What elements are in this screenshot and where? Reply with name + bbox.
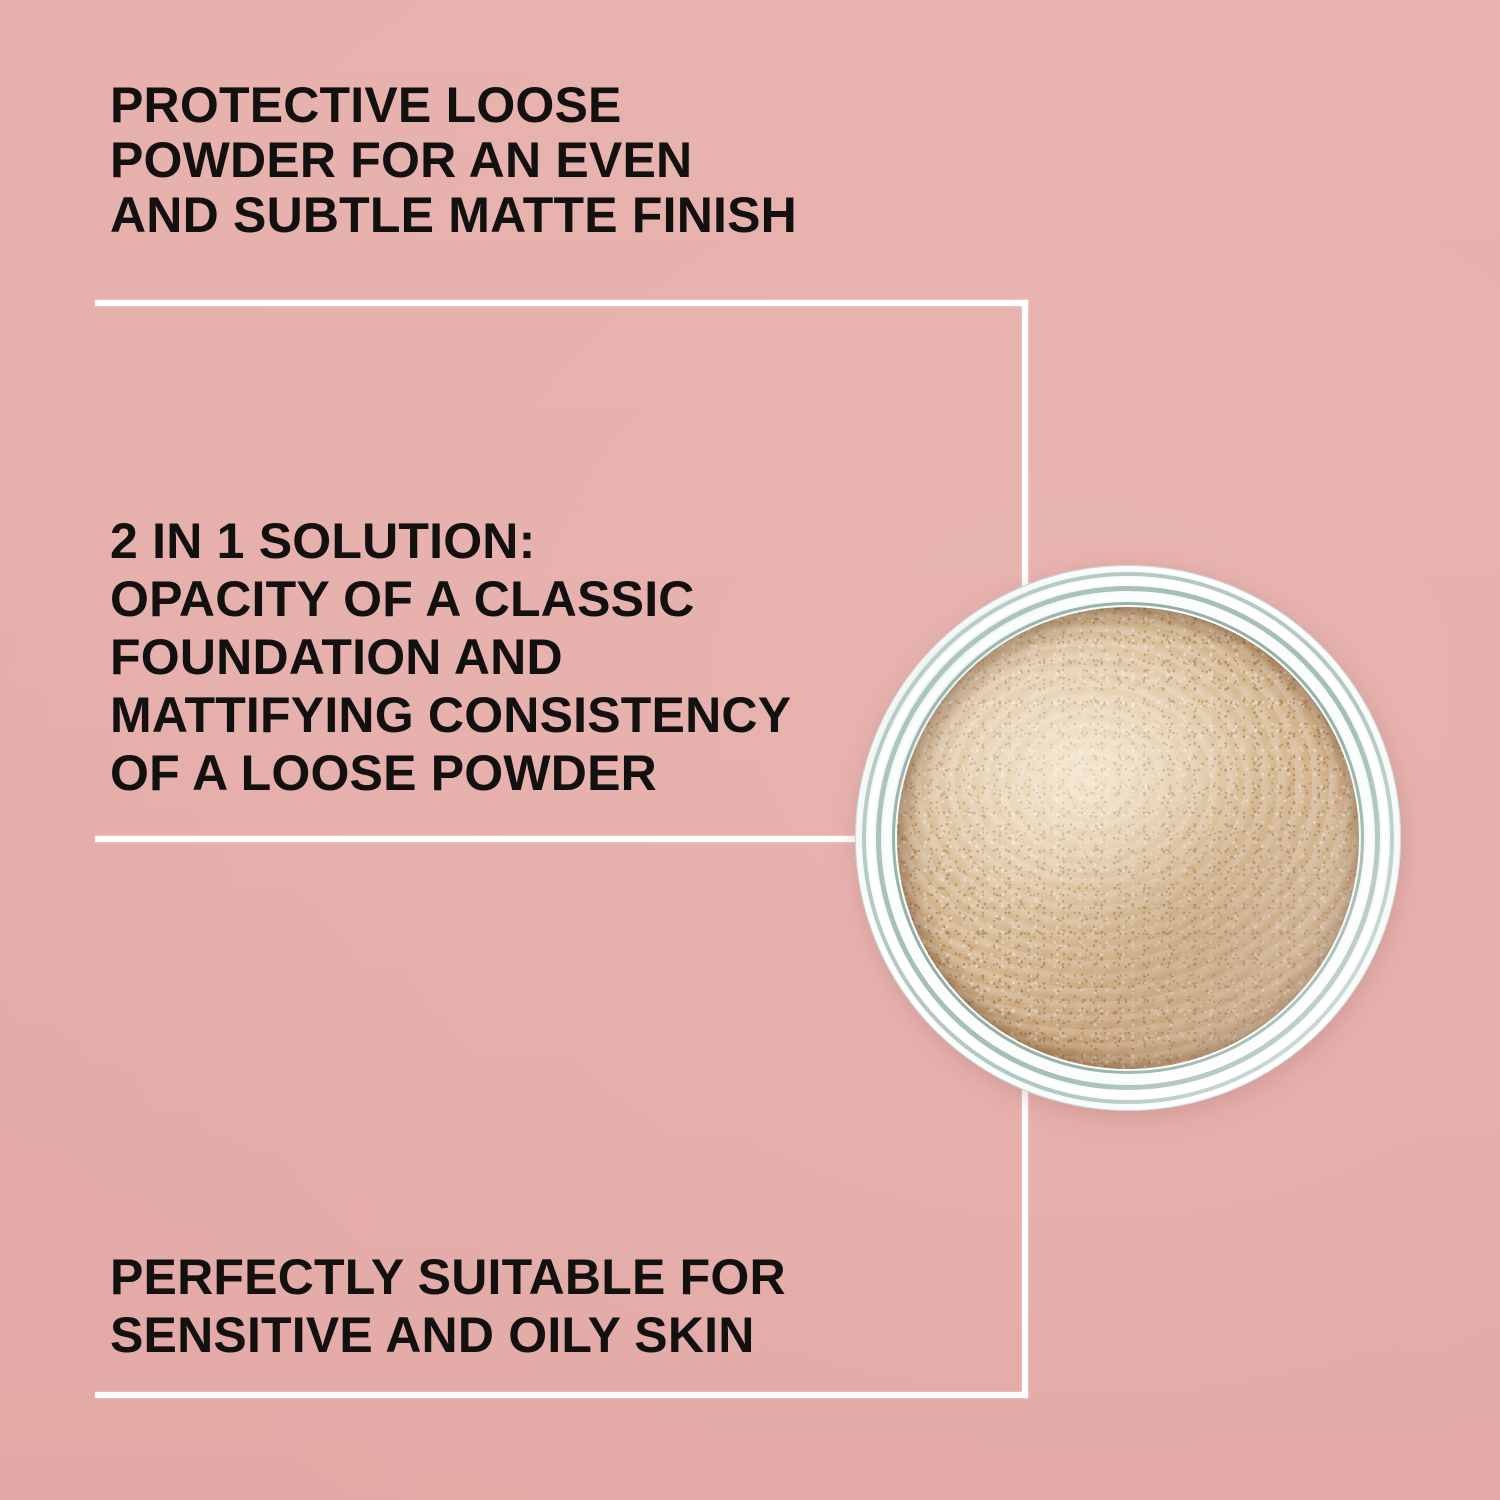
horizontal-rule-under-headline [95,300,1028,306]
powder-surface [897,607,1359,1069]
loose-powder-jar-image [855,565,1401,1111]
product-feature-panel: PROTECTIVE LOOSE POWDER FOR AN EVEN AND … [0,0,1500,1500]
horizontal-rule-under-skin-copy [95,1392,1028,1398]
skin-suitability-text: PERFECTLY SUITABLE FOR SENSITIVE AND OIL… [110,1248,786,1364]
vertical-rule-lower-segment [1022,1085,1028,1398]
vertical-rule-upper-segment [1022,300,1028,600]
headline-text: PROTECTIVE LOOSE POWDER FOR AN EVEN AND … [110,78,797,243]
solution-benefit-text: 2 IN 1 SOLUTION: OPACITY OF A CLASSIC FO… [110,512,791,802]
powder-rim-shadow [897,607,1359,1069]
horizontal-rule-under-solution [95,836,863,842]
